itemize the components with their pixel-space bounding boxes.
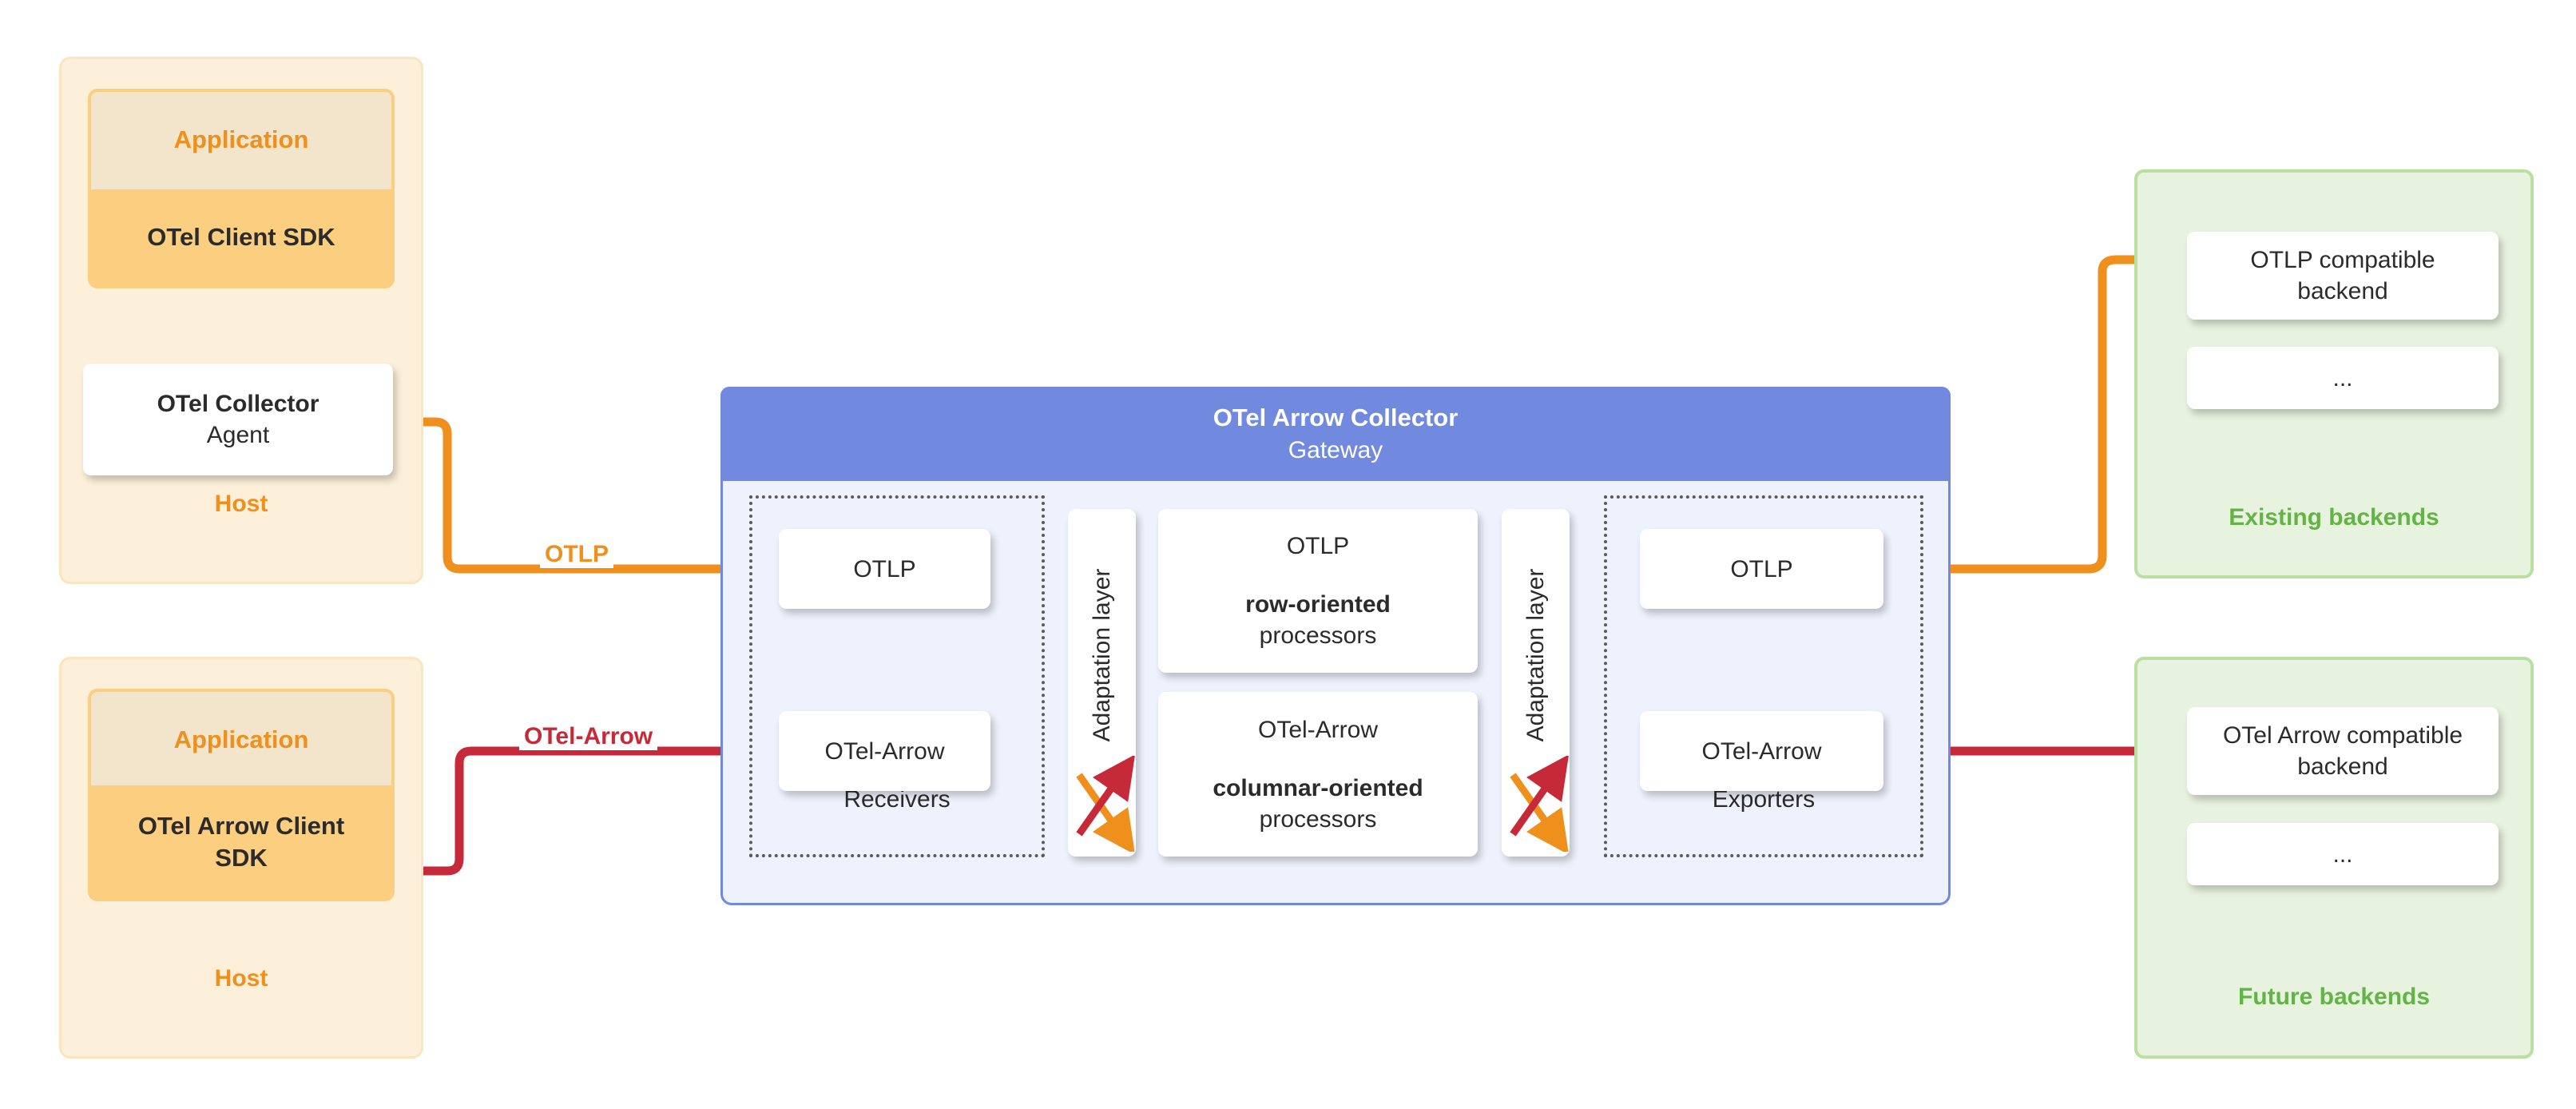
exporter-card-otlp: OTLP [1640,529,1883,609]
edge-label-otlp: OTLP [540,541,613,568]
backend-card-future-more: ... [2187,823,2499,885]
collector-header: OTel Arrow Collector Gateway [720,387,1951,481]
receiver-card-otlp: OTLP [779,529,990,609]
adaptation-layer-left: Adaptation layer [1068,509,1136,857]
processor-kind-label: columnar-oriented [1213,773,1423,804]
diagram-canvas: Host Application OTel Client SDK OTel Co… [0,0,2576,1109]
host-label: Host [62,965,421,992]
application-title: Application [91,725,391,754]
collector-title: OTel Arrow Collector [1213,401,1459,435]
exporter-otlp-label: OTLP [1730,554,1792,585]
otel-collector-subtitle: Agent [207,419,269,451]
backend-name: ... [2332,363,2352,394]
adaptation-layer-right: Adaptation layer [1502,509,1570,857]
receiver-otel-arrow-label: OTel-Arrow [824,736,944,767]
processor-card-columnar-oriented: OTel-Arrow columnar-oriented processors [1158,692,1478,857]
collector-subtitle: Gateway [1288,435,1383,467]
processor-suffix-label: processors [1260,804,1377,835]
otel-arrow-client-sdk-box: OTel Arrow Client SDK [91,785,391,898]
edge-label-otel-arrow: OTel-Arrow [519,723,657,750]
application-card-otel-arrow-client: Application OTel Arrow Client SDK [88,689,395,901]
backend-card-otlp-compatible: OTLP compatible backend [2187,232,2499,320]
backend-card-otel-arrow-compatible: OTel Arrow compatible backend [2187,707,2499,795]
receiver-card-otel-arrow: OTel-Arrow [779,711,990,791]
processor-kind-label: row-oriented [1245,589,1391,620]
backend-name: OTLP compatible backend [2250,244,2435,307]
exporter-card-otel-arrow: OTel-Arrow [1640,711,1883,791]
exporter-otel-arrow-label: OTel-Arrow [1701,736,1821,767]
crossed-arrows-icon [1068,756,1136,852]
application-card-otel-client: Application OTel Client SDK [88,89,395,288]
crossed-arrows-icon [1502,756,1570,852]
processor-protocol-label: OTLP [1287,531,1349,562]
otel-collector-agent-card: OTel Collector Agent [83,364,393,475]
backend-card-existing-more: ... [2187,347,2499,409]
future-backends-label: Future backends [2137,984,2530,1011]
backend-name: OTel Arrow compatible backend [2223,720,2463,782]
adaptation-layer-label: Adaptation layer [1089,568,1116,741]
existing-backends-label: Existing backends [2137,504,2530,531]
application-title: Application [91,125,391,154]
adaptation-layer-label: Adaptation layer [1522,568,1550,741]
processor-suffix-label: processors [1260,620,1377,651]
host-label: Host [62,491,421,518]
processor-card-row-oriented: OTLP row-oriented processors [1158,509,1478,673]
backend-name: ... [2332,839,2352,870]
otel-client-sdk-box: OTel Client SDK [91,189,391,285]
processor-protocol-label: OTel-Arrow [1258,714,1378,745]
receiver-otlp-label: OTLP [853,554,915,585]
otel-collector-title: OTel Collector [157,388,320,419]
